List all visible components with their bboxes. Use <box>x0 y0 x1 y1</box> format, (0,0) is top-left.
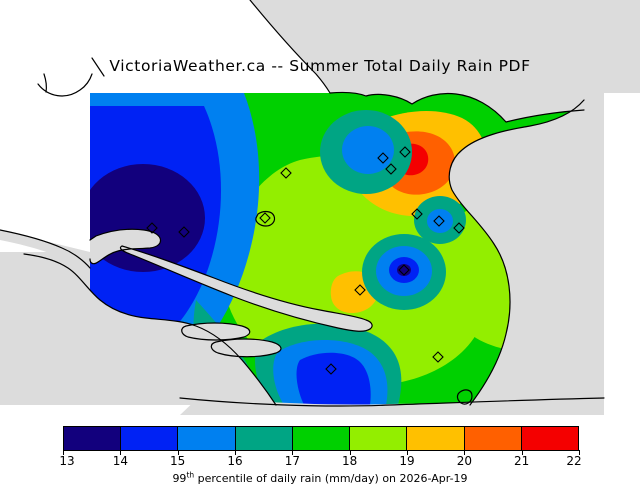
colorbar-label-21: 21 <box>514 454 529 468</box>
colorbar-band-14-15 <box>121 427 178 450</box>
colorbar-caption: 99th percentile of daily rain (mm/day) o… <box>0 472 640 485</box>
contour-pocket-east-blue <box>427 209 453 233</box>
colorbar-labels: 13141516171819202122 <box>0 454 640 470</box>
colorbar-band-17-18 <box>293 427 350 450</box>
colorbar-band-13-14 <box>64 427 121 450</box>
colorbar-band-18-19 <box>350 427 407 450</box>
colorbar-band-21-22 <box>522 427 578 450</box>
colorbar <box>63 426 579 451</box>
colorbar-label-13: 13 <box>59 454 74 468</box>
caption-prefix: 99 <box>172 472 186 485</box>
weather-map-page: VictoriaWeather.ca -- Summer Total Daily… <box>0 0 640 480</box>
colorbar-label-20: 20 <box>457 454 472 468</box>
caption-rest: percentile of daily rain (mm/day) on 202… <box>194 472 467 485</box>
colorbar-label-19: 19 <box>399 454 414 468</box>
colorbar-label-18: 18 <box>342 454 357 468</box>
colorbar-block: 13141516171819202122 99th percentile of … <box>0 420 640 480</box>
colorbar-label-17: 17 <box>285 454 300 468</box>
colorbar-band-15-16 <box>178 427 235 450</box>
contour-pocket-north-blue <box>342 126 394 174</box>
colorbar-label-14: 14 <box>113 454 128 468</box>
colorbar-label-16: 16 <box>227 454 242 468</box>
colorbar-band-20-21 <box>465 427 522 450</box>
colorbar-label-22: 22 <box>566 454 581 468</box>
caption-superscript: th <box>186 470 194 479</box>
colorbar-label-15: 15 <box>170 454 185 468</box>
colorbar-band-19-20 <box>407 427 464 450</box>
page-title: VictoriaWeather.ca -- Summer Total Daily… <box>0 57 640 75</box>
colorbar-band-16-17 <box>236 427 293 450</box>
